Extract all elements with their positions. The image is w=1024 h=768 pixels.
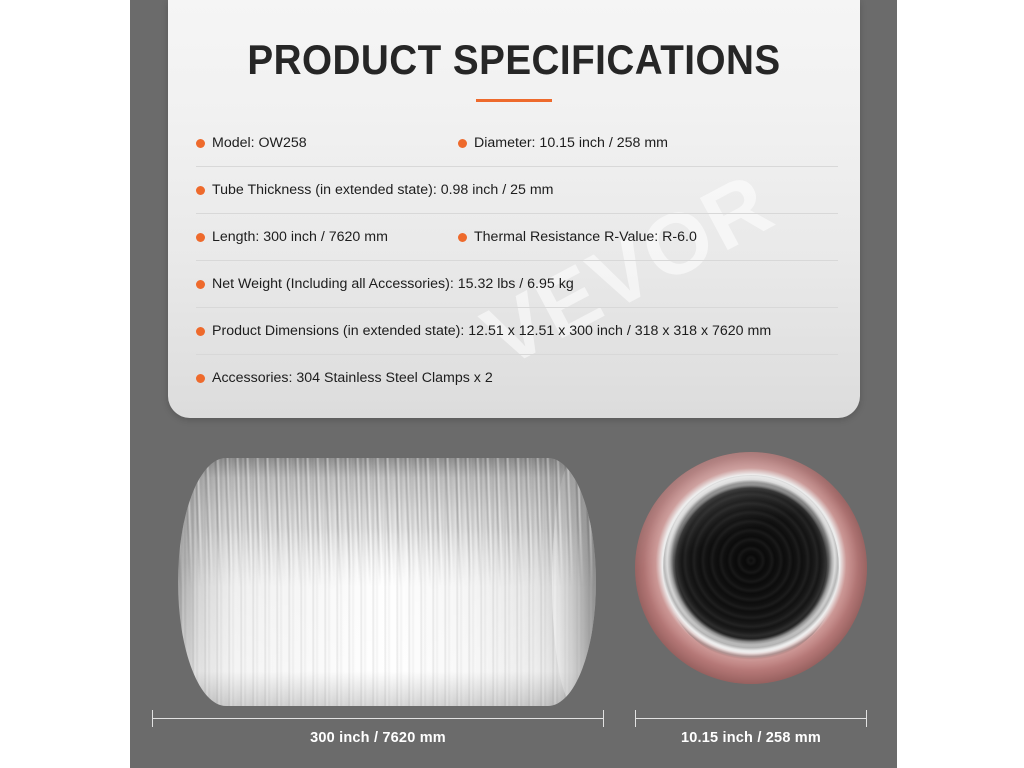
product-info-canvas: VEVOR PRODUCT SPECIFICATIONS Model: OW25… [130,0,897,768]
spec-label: Tube Thickness (in extended state): 0.98… [212,183,553,197]
insulated-duct-side-image [178,458,596,706]
spec-row: Length: 300 inch / 7620 mm Thermal Resis… [196,214,838,261]
spec-item: Thermal Resistance R-Value: R-6.0 [458,214,697,261]
product-photo-area: 300 inch / 7620 mm 10.15 inch / 258 mm [130,440,897,768]
spec-label: Diameter: 10.15 inch / 258 mm [474,136,668,150]
spec-row: Tube Thickness (in extended state): 0.98… [196,167,838,214]
spec-item: Length: 300 inch / 7620 mm [196,214,388,261]
specifications-card: VEVOR PRODUCT SPECIFICATIONS Model: OW25… [168,0,860,418]
spec-label: Model: OW258 [212,136,307,150]
duct-end-cap-shading [552,458,596,706]
dimension-tick-right [866,710,867,727]
dimension-label-length: 300 inch / 7620 mm [152,730,604,746]
dimension-line [152,718,604,719]
spec-label: Thermal Resistance R-Value: R-6.0 [474,230,697,244]
spec-row: Accessories: 304 Stainless Steel Clamps … [196,355,838,402]
spec-item: Diameter: 10.15 inch / 258 mm [458,120,668,167]
spec-item: Tube Thickness (in extended state): 0.98… [196,167,553,214]
dimension-callout-length: 300 inch / 7620 mm [152,708,604,754]
bullet-icon [196,186,205,195]
bullet-icon [196,139,205,148]
bullet-icon [458,139,467,148]
bullet-icon [196,233,205,242]
spec-label: Accessories: 304 Stainless Steel Clamps … [212,371,493,385]
dimension-tick-left [152,710,153,727]
spec-item: Model: OW258 [196,120,307,167]
spec-label: Product Dimensions (in extended state): … [212,324,771,338]
spec-label: Length: 300 inch / 7620 mm [212,230,388,244]
screenshot-root: VEVOR PRODUCT SPECIFICATIONS Model: OW25… [0,0,1024,768]
bullet-icon [196,374,205,383]
dimension-line [635,718,867,719]
dimension-tick-right [603,710,604,727]
spec-label: Net Weight (Including all Accessories): … [212,277,574,291]
specification-list: Model: OW258 Diameter: 10.15 inch / 258 … [196,120,838,402]
spec-row: Model: OW258 Diameter: 10.15 inch / 258 … [196,120,838,167]
dimension-label-diameter: 10.15 inch / 258 mm [635,730,867,746]
spec-item: Accessories: 304 Stainless Steel Clamps … [196,355,493,402]
spec-item: Product Dimensions (in extended state): … [196,308,771,355]
bullet-icon [196,280,205,289]
spec-row: Product Dimensions (in extended state): … [196,308,838,355]
bullet-icon [196,327,205,336]
spec-row: Net Weight (Including all Accessories): … [196,261,838,308]
page-title: PRODUCT SPECIFICATIONS [196,36,833,84]
spec-item: Net Weight (Including all Accessories): … [196,261,574,308]
bullet-icon [458,233,467,242]
dimension-callout-diameter: 10.15 inch / 258 mm [635,708,867,754]
dimension-tick-left [635,710,636,727]
title-underline-rule [476,99,552,102]
insulated-duct-end-image [635,452,867,684]
